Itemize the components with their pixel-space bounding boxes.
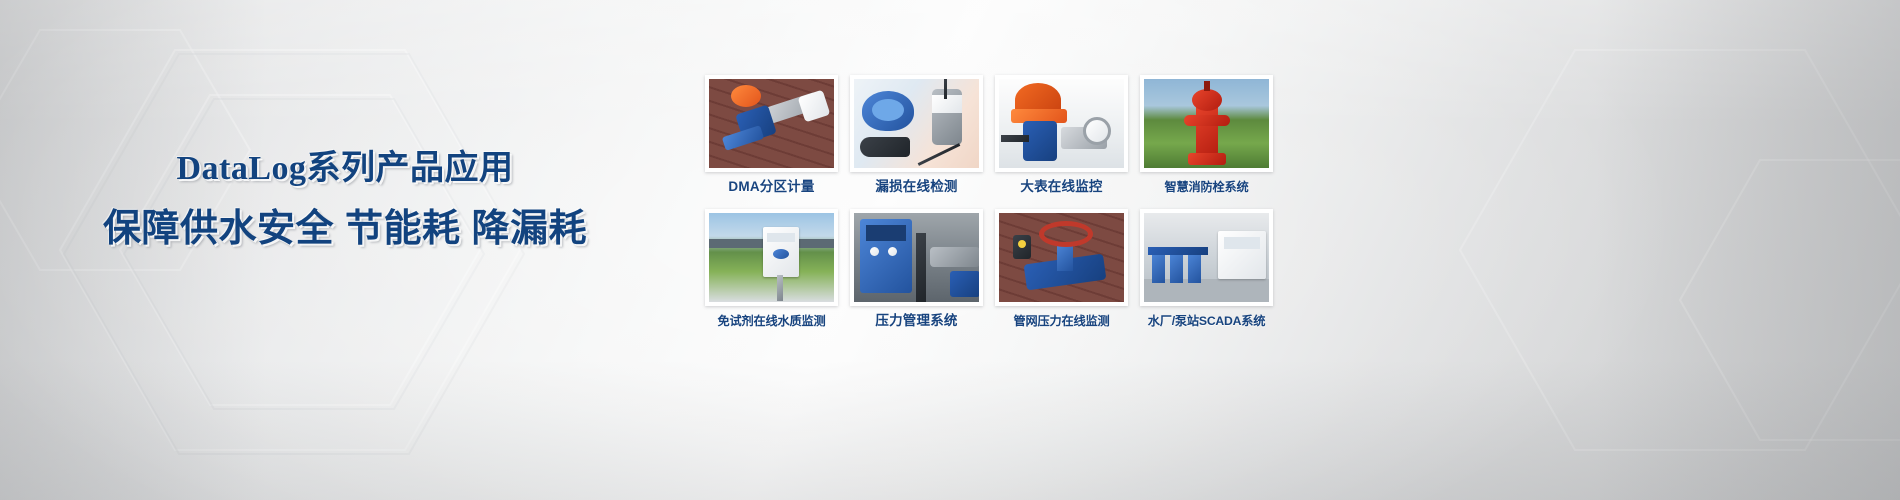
leak-logger-icon [854, 79, 979, 168]
product-caption-hydrant: 智慧消防栓系统 [1140, 179, 1273, 195]
product-caption-scada: 水厂/泵站SCADA系统 [1140, 313, 1273, 329]
product-thumb-dma[interactable] [705, 75, 838, 172]
product-caption-pipepressure: 管网压力在线监测 [995, 313, 1128, 329]
product-card-scada[interactable]: 水厂/泵站SCADA系统 [1140, 209, 1273, 329]
product-thumb-pipepressure[interactable] [995, 209, 1128, 306]
product-caption-bigmeter: 大表在线监控 [995, 179, 1128, 195]
product-caption-dma: DMA分区计量 [705, 179, 838, 195]
water-meter-valve-icon [709, 79, 834, 168]
product-card-dma[interactable]: DMA分区计量 [705, 75, 838, 195]
product-caption-leak: 漏损在线检测 [850, 179, 983, 195]
banner-root: DataLog系列产品应用 保障供水安全 节能耗 降漏耗 DMA分区计量 [0, 0, 1900, 500]
product-card-waterquality[interactable]: 免试剂在线水质监测 [705, 209, 838, 329]
headline-line-2: 保障供水安全 节能耗 降漏耗 [0, 206, 690, 252]
pipe-pressure-icon [999, 213, 1124, 302]
product-card-hydrant[interactable]: 智慧消防栓系统 [1140, 75, 1273, 195]
product-grid: DMA分区计量 漏损在线检测 [705, 75, 1285, 329]
scada-cabinet-icon [1144, 213, 1269, 302]
fire-hydrant-icon [1144, 79, 1269, 168]
product-thumb-hydrant[interactable] [1140, 75, 1273, 172]
pressure-cabinet-icon [854, 213, 979, 302]
large-meter-icon [999, 79, 1124, 168]
product-thumb-scada[interactable] [1140, 209, 1273, 306]
product-thumb-bigmeter[interactable] [995, 75, 1128, 172]
product-card-leak[interactable]: 漏损在线检测 [850, 75, 983, 195]
product-thumb-pressuremgmt[interactable] [850, 209, 983, 306]
headline-line-1: DataLog系列产品应用 [0, 148, 690, 190]
product-caption-pressuremgmt: 压力管理系统 [850, 313, 983, 329]
product-thumb-leak[interactable] [850, 75, 983, 172]
product-thumb-waterquality[interactable] [705, 209, 838, 306]
product-card-pressuremgmt[interactable]: 压力管理系统 [850, 209, 983, 329]
product-card-pipepressure[interactable]: 管网压力在线监测 [995, 209, 1128, 329]
product-card-bigmeter[interactable]: 大表在线监控 [995, 75, 1128, 195]
product-caption-waterquality: 免试剂在线水质监测 [705, 313, 838, 329]
water-quality-station-icon [709, 213, 834, 302]
headline-block: DataLog系列产品应用 保障供水安全 节能耗 降漏耗 [0, 148, 690, 252]
